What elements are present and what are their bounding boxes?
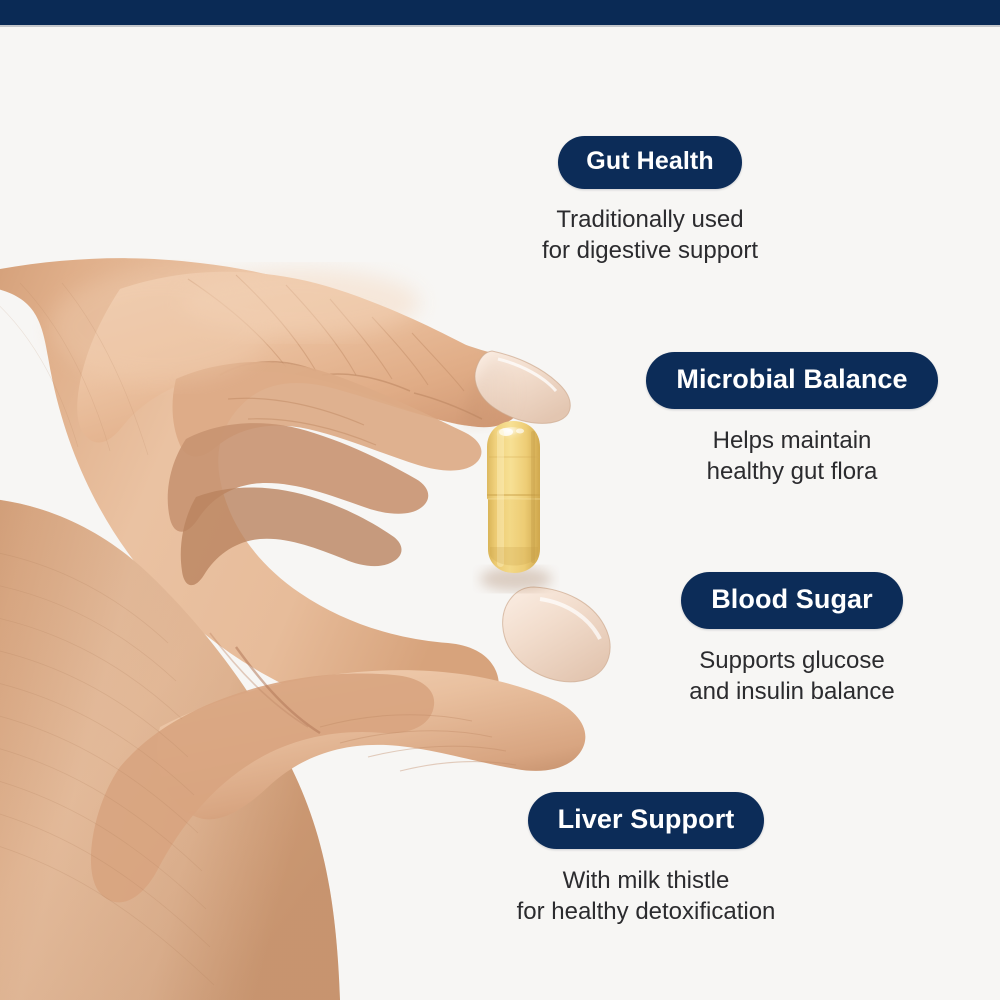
benefit-blood-sugar: Blood Sugar Supports glucose and insulin… [567, 572, 1000, 707]
description-gut-health: Traditionally used for digestive support [425, 205, 875, 266]
benefit-gut-health: Gut Health Traditionally used for digest… [425, 136, 875, 266]
description-blood-sugar: Supports glucose and insulin balance [567, 646, 1000, 707]
product-benefits-graphic: Gut Health Traditionally used for digest… [0, 0, 1000, 1000]
benefit-liver-support: Liver Support With milk thistle for heal… [421, 792, 871, 927]
badge-gut-health[interactable]: Gut Health [558, 136, 741, 189]
capsule [487, 421, 540, 573]
top-navy-bar [0, 0, 1000, 25]
badge-blood-sugar[interactable]: Blood Sugar [681, 572, 903, 629]
badge-microbial-balance[interactable]: Microbial Balance [646, 352, 937, 409]
benefit-microbial-balance: Microbial Balance Helps maintain healthy… [567, 352, 1000, 487]
description-microbial-balance: Helps maintain healthy gut flora [567, 426, 1000, 487]
badge-liver-support[interactable]: Liver Support [528, 792, 765, 849]
description-liver-support: With milk thistle for healthy detoxifica… [421, 866, 871, 927]
